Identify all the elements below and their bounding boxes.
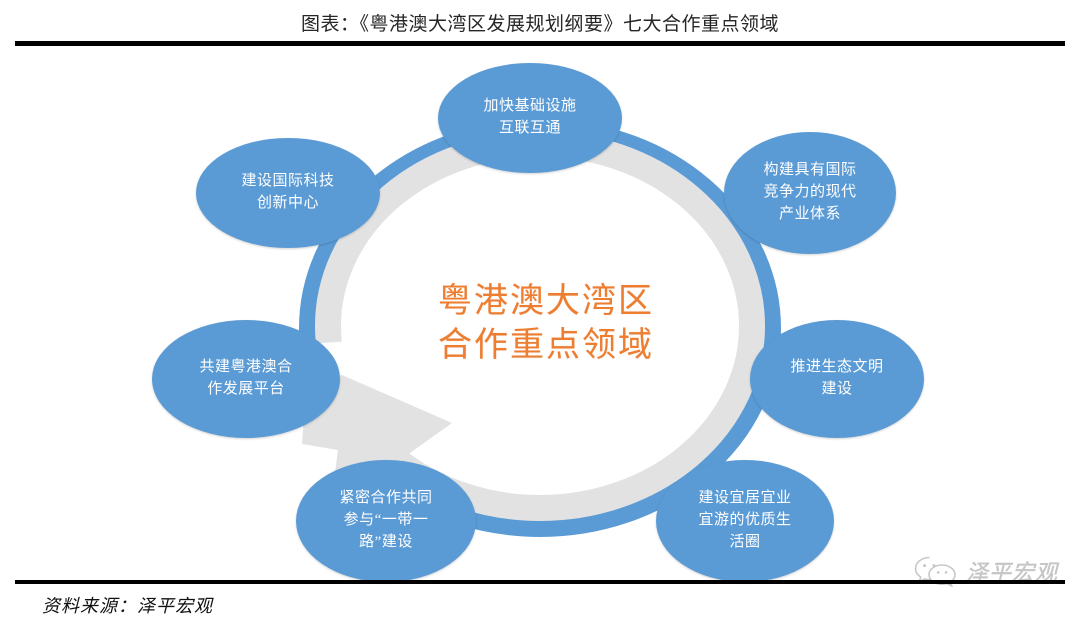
node-ecology[interactable]: 推进生态文明 建设 [750,320,924,438]
node-tech-innovation[interactable]: 建设国际科技 创新中心 [196,138,380,248]
node-ecology-label: 推进生态文明 建设 [790,357,883,401]
center-label: 粤港澳大湾区 合作重点领域 [396,280,696,367]
node-industry-system[interactable]: 构建具有国际 竞争力的现代 产业体系 [724,132,896,254]
node-livable-life-label: 建设宜居宜业 宜游的优质生 活圈 [698,488,791,553]
node-infrastructure[interactable]: 加快基础设施 互联互通 [438,63,622,173]
node-industry-system-label: 构建具有国际 竞争力的现代 产业体系 [763,160,856,225]
title-area: 图表：《粤港澳大湾区发展规划纲要》七大合作重点领域 [0,0,1080,44]
node-livable-life[interactable]: 建设宜居宜业 宜游的优质生 活圈 [656,460,834,582]
node-cooperation-platform-label: 共建粤港澳合 作发展平台 [199,357,292,401]
node-cooperation-platform[interactable]: 共建粤港澳合 作发展平台 [152,320,340,438]
top-divider-rule [15,41,1065,46]
node-infrastructure-label: 加快基础设施 互联互通 [483,96,576,140]
figure-page: 图表：《粤港澳大湾区发展规划纲要》七大合作重点领域 [0,0,1080,629]
node-belt-and-road-label: 紧密合作共同 参与“一带一 路”建设 [339,488,432,553]
node-belt-and-road[interactable]: 紧密合作共同 参与“一带一 路”建设 [296,460,476,582]
node-tech-innovation-label: 建设国际科技 创新中心 [241,171,334,215]
source-note: 资料来源：泽平宏观 [42,592,213,618]
cycle-diagram: 粤港澳大湾区 合作重点领域 加快基础设施 互联互通 建设国际科技 创新中心 构建… [0,48,1080,578]
page-title: 图表：《粤港澳大湾区发展规划纲要》七大合作重点领域 [301,9,779,36]
bottom-divider-rule [15,580,1065,584]
